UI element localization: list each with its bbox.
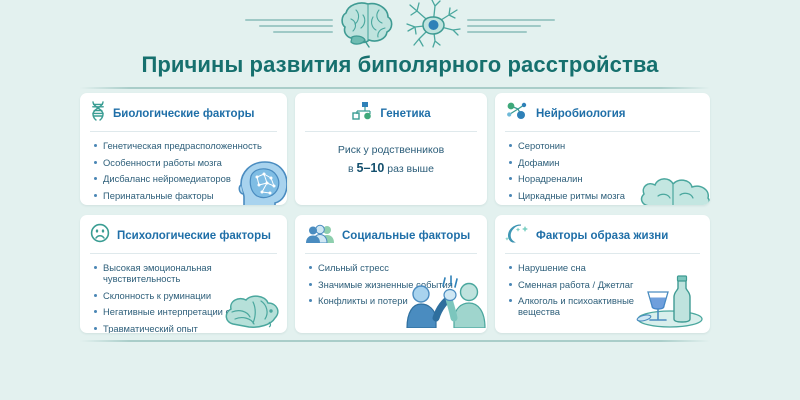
genetics-value: 5–10: [357, 161, 385, 175]
card-genetics[interactable]: Генетика Риск у родственников в 5–10 раз…: [295, 93, 487, 205]
header-left-lines: [245, 19, 333, 33]
molecule-icon: [505, 101, 529, 126]
list-item: Склонность к руминации: [94, 290, 277, 301]
card-title: Факторы образа жизни: [536, 230, 668, 242]
divider-bottom: [80, 340, 710, 342]
list-item: Дисбаланс нейромедиаторов: [94, 173, 277, 184]
list-item: Циркадные ритмы мозга: [509, 190, 700, 201]
card-biological-factors[interactable]: Биологические факторы Генетическая предр…: [80, 93, 287, 205]
card-header: Социальные факторы: [295, 215, 487, 252]
card-social-factors[interactable]: Социальные факторы Сильный стресс Значим…: [295, 215, 487, 333]
card-psychological-factors[interactable]: Психологические факторы Высокая эмоциона…: [80, 215, 287, 333]
list-item: Особенности работы мозга: [94, 157, 277, 168]
infographic-canvas: Причины развития биполярного расстройств…: [0, 0, 800, 400]
cards-grid: Биологические факторы Генетическая предр…: [80, 93, 710, 333]
header-right-lines: [467, 19, 555, 33]
card-title: Биологические факторы: [113, 108, 254, 120]
card-title: Социальные факторы: [342, 230, 470, 242]
list-item: Дофамин: [509, 157, 700, 168]
page-title: Причины развития биполярного расстройств…: [0, 52, 800, 78]
genetics-body: Риск у родственников в 5–10 раз выше: [295, 132, 487, 178]
list-item: Серотонин: [509, 140, 700, 151]
card-header: Биологические факторы: [80, 93, 287, 130]
list-item: Перинатальные факторы: [94, 190, 277, 201]
card-lifestyle-factors[interactable]: Факторы образа жизни Нарушение сна Сменн…: [495, 215, 710, 333]
card-bullet-list: Сильный стресс Значимые жизненные событи…: [295, 254, 487, 306]
card-title: Нейробиология: [536, 108, 625, 120]
genetics-line-2: в 5–10 раз выше: [303, 159, 479, 178]
card-header: Факторы образа жизни: [495, 215, 710, 252]
header-icon-group: [0, 0, 800, 52]
list-item: Нарушение сна: [509, 262, 648, 273]
card-bullet-list: Серотонин Дофамин Норадреналин Циркадные…: [495, 132, 710, 201]
dna-icon: [90, 101, 106, 126]
list-item: Значимые жизненные события: [309, 279, 477, 290]
card-neurobiology[interactable]: Нейробиология Серотонин Дофамин Норадрен…: [495, 93, 710, 205]
people-icon: [305, 223, 335, 248]
genetics-line-1: Риск у родственников: [303, 143, 479, 159]
list-item: Негативные интерпретации событий: [94, 306, 277, 317]
card-title: Генетика: [380, 108, 430, 120]
genetics-suffix: раз выше: [384, 163, 434, 175]
neuron-icon: [405, 0, 461, 54]
crescent-moon-icon: [505, 223, 529, 248]
genetics-prefix: в: [348, 163, 357, 175]
card-header: Психологические факторы: [80, 215, 287, 252]
card-bullet-list: Генетическая предрасположенность Особенн…: [80, 132, 287, 201]
list-item: Сильный стресс: [309, 262, 477, 273]
list-item: Высокая эмоциональная чувствительность: [94, 262, 277, 284]
card-bullet-list: Нарушение сна Сменная работа / Джетлаг А…: [495, 254, 710, 317]
card-bullet-list: Высокая эмоциональная чувствительность С…: [80, 254, 287, 333]
header: Причины развития биполярного расстройств…: [0, 0, 800, 56]
card-header: Нейробиология: [495, 93, 710, 130]
divider-top: [80, 87, 710, 89]
list-item: Норадреналин: [509, 173, 700, 184]
sad-face-icon: [90, 223, 110, 248]
list-item: Алкоголь и психоактивные вещества: [509, 295, 648, 317]
family-tree-icon: [351, 101, 373, 126]
list-item: Генетическая предрасположенность: [94, 140, 277, 151]
list-item: Травматический опыт: [94, 323, 277, 333]
brain-icon: [339, 0, 397, 54]
list-item: Конфликты и потери: [309, 295, 477, 306]
card-header: Генетика: [295, 93, 487, 130]
list-item: Сменная работа / Джетлаг: [509, 279, 648, 290]
card-title: Психологические факторы: [117, 230, 271, 242]
